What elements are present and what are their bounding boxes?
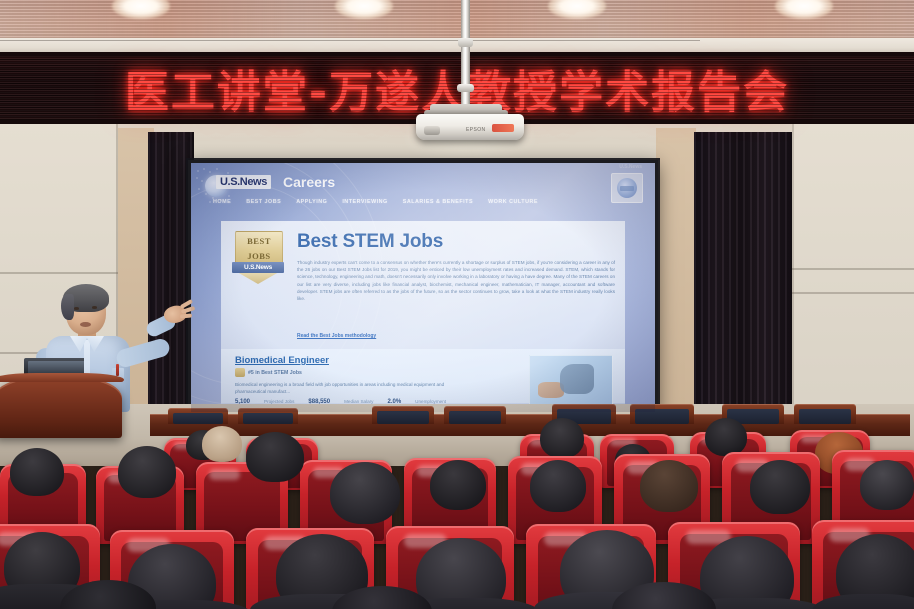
led-banner-top-edge [0, 52, 914, 56]
projector-brand-text: EPSON [466, 127, 486, 133]
projector-lens [424, 126, 440, 135]
nav-item-applying[interactable]: APPLYING [296, 199, 327, 205]
badge-ribbon: U.S.News [232, 262, 284, 273]
wall-seam [792, 124, 794, 424]
job-result-card[interactable]: Biomedical Engineer #5 in Best STEM Jobs… [221, 349, 625, 411]
job-rank-label: #5 in Best STEM Jobs [248, 370, 302, 376]
audience-head [530, 460, 586, 512]
badge-point [237, 272, 279, 284]
wall-panel-right [792, 124, 914, 424]
audience-area [0, 404, 914, 609]
site-nav[interactable]: HOME BEST JOBS APPLYING INTERVIEWING SAL… [213, 199, 538, 205]
article-paragraph: Though industry experts can't come to a … [297, 259, 615, 302]
audience-head [540, 418, 584, 458]
speaker-eye [74, 307, 79, 310]
projector-joint [458, 38, 473, 47]
nav-item-home[interactable]: HOME [213, 199, 231, 205]
job-description: Biomedical engineering is a broad field … [235, 381, 475, 395]
medal-icon [235, 368, 245, 377]
usnews-logo[interactable]: U.S.News [216, 175, 271, 189]
audience-head [640, 460, 698, 512]
audience-head [246, 432, 304, 482]
speaker-eye [92, 306, 97, 309]
audience-head [750, 460, 810, 514]
wall-seam [0, 272, 118, 274]
podium-top-surface [0, 373, 124, 382]
nav-item-interviewing[interactable]: INTERVIEWING [342, 199, 387, 205]
audience-head [202, 426, 242, 462]
best-jobs-badge-icon: BEST JOBS U.S.News [235, 231, 281, 285]
speaker-pen [116, 364, 119, 376]
job-title-link[interactable]: Biomedical Engineer [235, 355, 329, 366]
badge-ribbon-text: U.S.News [232, 262, 284, 273]
globe-icon[interactable] [611, 173, 643, 203]
projector-badge [492, 124, 514, 132]
job-thumbnail-image [529, 355, 613, 407]
nav-item-work-culture[interactable]: WORK CULTURE [488, 199, 538, 205]
nav-item-best-jobs[interactable]: BEST JOBS [246, 199, 281, 205]
audience-head [860, 460, 914, 510]
stage-curtain-right [694, 132, 792, 424]
badge-line2: JOBS [236, 251, 282, 262]
audience-head [705, 418, 747, 456]
audience-head [10, 448, 64, 496]
badge-line1: BEST [236, 236, 282, 247]
methodology-link[interactable]: Read the Best Jobs methodology [297, 333, 376, 339]
speaker-hair-side [61, 294, 74, 320]
speaker-mouth [80, 322, 91, 327]
audience-head [330, 462, 400, 524]
article-heading: Best STEM Jobs [297, 231, 443, 253]
wall-seam [792, 292, 914, 294]
projection-screen: U.S.News Careers U.S.News HOME BEST JOBS… [191, 163, 655, 412]
usnews-watermark: U.S.News [619, 164, 642, 170]
audience-head [118, 446, 176, 498]
wall-seam [792, 268, 914, 270]
projector-joint [457, 84, 474, 92]
nav-item-salaries[interactable]: SALARIES & BENEFITS [403, 199, 473, 205]
audience-head [430, 460, 486, 510]
auditorium-scene: 医工讲堂-万遂人教授学术报告会 EPSON [0, 0, 914, 609]
wall-warm-strip [656, 128, 696, 424]
globe-inner-icon [617, 178, 637, 198]
site-section-title: Careers [283, 174, 335, 190]
